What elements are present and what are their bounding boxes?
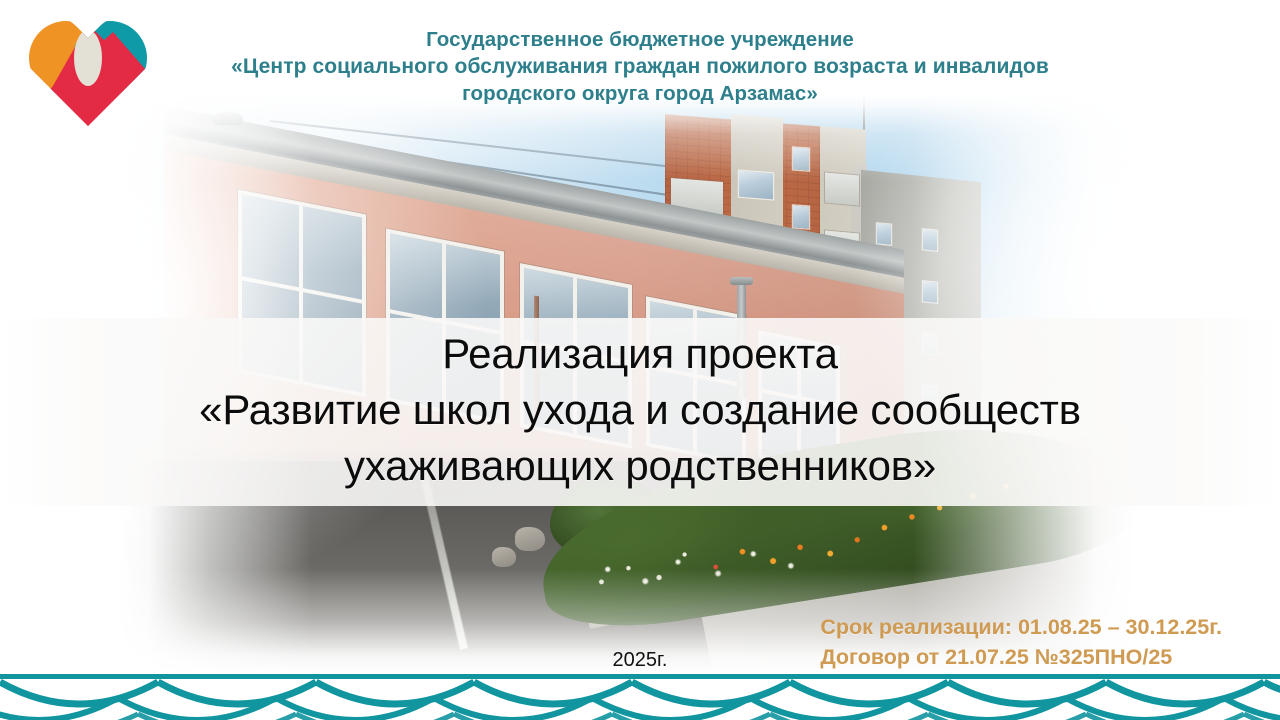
header-line-2: «Центр социального обслуживания граждан … xyxy=(170,53,1110,80)
decorative-stone xyxy=(492,547,516,567)
contract-info: Срок реализации: 01.08.25 – 30.12.25г. Д… xyxy=(820,612,1222,672)
window xyxy=(923,281,937,302)
presentation-slide: Государственное бюджетное учреждение «Це… xyxy=(0,0,1280,720)
organization-header: Государственное бюджетное учреждение «Це… xyxy=(170,26,1110,107)
scalloped-border xyxy=(0,674,1280,720)
title-line-1: Реализация проекта xyxy=(0,326,1280,382)
header-line-3: городского округа город Арзамас» xyxy=(170,80,1110,107)
roof-vent xyxy=(213,112,243,125)
chimney-cap xyxy=(730,277,753,285)
contract-number: Договор от 21.07.25 №325ПНО/25 xyxy=(820,642,1222,672)
title-line-2: «Развитие школ ухода и создание сообщест… xyxy=(0,382,1280,438)
window xyxy=(923,229,937,250)
title-line-3: ухаживающих родственников» xyxy=(0,438,1280,494)
header-line-1: Государственное бюджетное учреждение xyxy=(170,26,1110,53)
slide-title: Реализация проекта «Развитие школ ухода … xyxy=(0,318,1280,506)
project-period: Срок реализации: 01.08.25 – 30.12.25г. xyxy=(820,612,1222,642)
